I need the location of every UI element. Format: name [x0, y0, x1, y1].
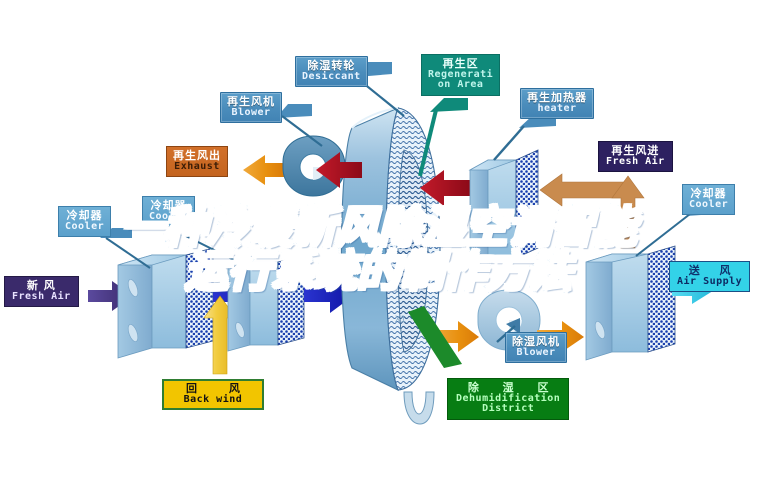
label-air-supply-en: Air Supply	[677, 277, 742, 288]
label-regen-area[interactable]: 再生区 Regenerati on Area	[421, 54, 500, 96]
label-desiccant-wheel-cn: 除湿转轮	[302, 60, 361, 72]
rotor-drip-tray	[404, 392, 434, 424]
label-regen-heater-en: heater	[527, 104, 587, 115]
label-cooler-right-en: Cooler	[689, 200, 728, 211]
label-dehumid-blower-en: Blower	[512, 348, 560, 359]
exhaust-arrow	[243, 155, 285, 185]
label-fresh-air-en: Fresh Air	[12, 292, 71, 303]
label-exhaust-cn: 再生风出	[173, 150, 221, 162]
label-regen-blower[interactable]: 再生风机 Blower	[220, 92, 282, 123]
label-dehumid-blower-cn: 除湿风机	[512, 336, 560, 348]
label-regen-fresh-air[interactable]: 再生风进 Fresh Air	[598, 141, 673, 172]
label-back-wind[interactable]: 回 风 Back wind	[162, 379, 264, 410]
label-exhaust[interactable]: 再生风出 Exhaust	[166, 146, 228, 177]
diagram-graphics: X1	[0, 0, 757, 488]
label-cooler-left-2[interactable]: 冷却器 Cooler	[142, 196, 195, 227]
label-cooler-left-2-cn: 冷却器	[149, 200, 188, 212]
label-back-wind-cn: 回 风	[172, 383, 254, 395]
label-cooler-right-cn: 冷却器	[689, 188, 728, 200]
label-regen-area-cn: 再生区	[428, 58, 493, 70]
label-regen-fresh-air-cn: 再生风进	[606, 145, 665, 157]
label-regen-heater-cn: 再生加热器	[527, 92, 587, 104]
cooler-coil-right	[586, 246, 675, 360]
leader-heater	[494, 116, 556, 160]
label-fresh-air[interactable]: 新 风 Fresh Air	[4, 276, 79, 307]
label-air-supply-cn: 送 风	[677, 265, 742, 277]
regen-heater-arrow	[540, 174, 627, 206]
label-desiccant-wheel[interactable]: 除湿转轮 Desiccant	[295, 56, 368, 87]
label-back-wind-en: Back wind	[172, 395, 254, 406]
label-desiccant-wheel-en: Desiccant	[302, 72, 361, 83]
diagram-canvas: X1	[0, 0, 757, 488]
label-cooler-left-1[interactable]: 冷却器 Cooler	[58, 206, 111, 237]
label-fresh-air-cn: 新 风	[12, 280, 71, 292]
label-cooler-left-1-en: Cooler	[65, 222, 104, 233]
svg-text:X1: X1	[395, 315, 406, 325]
label-regen-area-en2: on Area	[428, 80, 493, 91]
label-regen-blower-en: Blower	[227, 108, 275, 119]
label-dehumid-area[interactable]: 除 湿 区 Dehumidification District	[447, 378, 569, 420]
label-exhaust-en: Exhaust	[173, 162, 221, 173]
regen-heater-coil	[470, 150, 538, 268]
label-regen-fresh-air-en: Fresh Air	[606, 157, 665, 168]
label-dehumid-area-en2: District	[456, 404, 560, 415]
label-cooler-right[interactable]: 冷却器 Cooler	[682, 184, 735, 215]
label-air-supply[interactable]: 送 风 Air Supply	[669, 261, 750, 292]
label-cooler-left-2-en: Cooler	[149, 212, 188, 223]
label-regen-blower-cn: 再生风机	[227, 96, 275, 108]
label-dehumid-area-cn: 除 湿 区	[456, 382, 560, 394]
cooler-coil-left-1	[118, 248, 213, 358]
label-cooler-left-1-cn: 冷却器	[65, 210, 104, 222]
cooler-coil-left-2	[228, 255, 304, 351]
label-dehumid-blower[interactable]: 除湿风机 Blower	[505, 332, 567, 363]
label-regen-heater[interactable]: 再生加热器 heater	[520, 88, 594, 119]
